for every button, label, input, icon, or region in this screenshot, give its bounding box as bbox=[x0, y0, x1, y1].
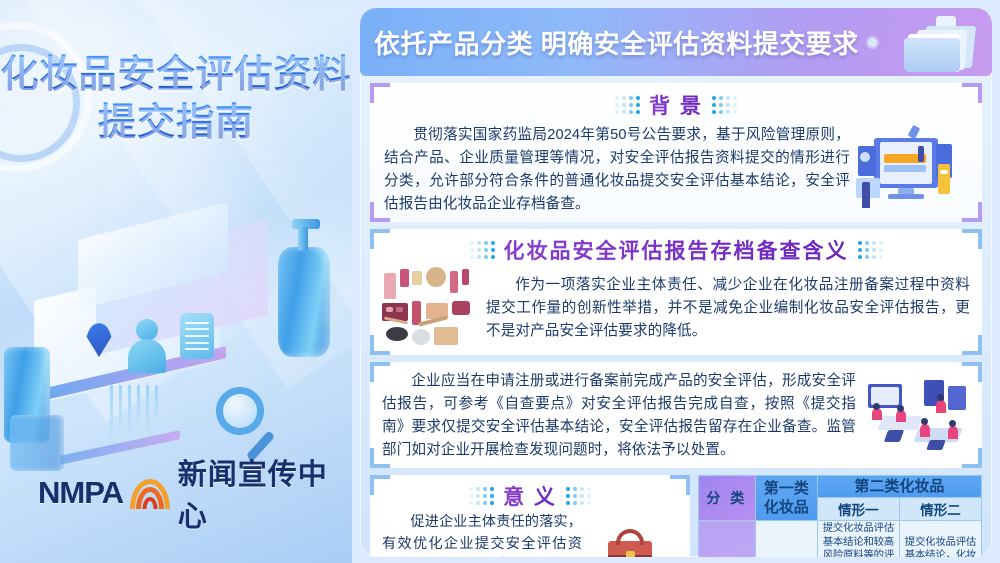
section-significance: 意 义 促进企业主体责任的落实，有效优化企业提交安全评估资料的程序，同时提高监管… bbox=[370, 475, 690, 557]
section-title: 意 义 bbox=[503, 481, 557, 511]
sections-container: 背 景 贯彻落实国家药监局2024年第50号公告要求，基于风险管理原则，结合产品… bbox=[360, 76, 992, 557]
table-cell-case1-main: 提交化妆品评估基本结论和较高风险原料等的评估资料，化妆品安全评估报告存档备查 bbox=[817, 521, 899, 558]
section-body-significance: 促进企业主体责任的落实，有效优化企业提交安全评估资料的程序，同时提高监管效能，有… bbox=[382, 512, 582, 557]
magnifier-icon bbox=[216, 387, 264, 435]
table-subheader-case2: 情形二 bbox=[899, 498, 981, 521]
corner-bracket bbox=[962, 83, 982, 103]
left-cover-panel: 化妆品安全评估资料 提交指南 bbox=[0, 0, 352, 563]
section-body-archiving: 作为一项落实企业主体责任、减少企业在化妆品注册备案过程中资料提交工作量的创新性举… bbox=[486, 274, 970, 343]
corner-bracket bbox=[370, 448, 390, 468]
pump-icon bbox=[298, 227, 308, 251]
table-subheader-case1: 情形一 bbox=[817, 498, 899, 521]
table-header-category: 分 类 bbox=[699, 476, 756, 521]
corner-bracket bbox=[370, 362, 390, 382]
section-title: 化妆品安全评估报告存档备查含义 bbox=[504, 235, 849, 265]
section-heading-significance: 意 义 bbox=[382, 481, 678, 511]
corner-bracket bbox=[962, 229, 982, 249]
dot-grid-icon bbox=[566, 487, 591, 505]
dot-grid-icon bbox=[469, 487, 494, 505]
nmpa-wordmark: NMPA bbox=[38, 475, 123, 511]
cover-title-line1: 化妆品安全评估资料 bbox=[0, 52, 352, 98]
table-row: 提 交资 料要 求 化妆品安全 评估报告 提交化妆品评估基本结论和较高风险原料等… bbox=[699, 521, 982, 558]
cover-title: 化妆品安全评估资料 提交指南 bbox=[0, 52, 352, 148]
corner-bracket bbox=[670, 475, 690, 495]
corner-bracket bbox=[370, 229, 390, 249]
dot-grid-icon bbox=[712, 96, 737, 114]
table-header-first-class: 第一类 化妆品 bbox=[755, 476, 817, 521]
table-header-second-class: 第二类化妆品 bbox=[817, 476, 981, 498]
handbag-cosmetics-icon bbox=[586, 527, 678, 557]
folder-icon bbox=[904, 16, 978, 74]
first-class-line1: 第一类 bbox=[758, 479, 815, 498]
infographic-page: 化妆品安全评估资料 提交指南 bbox=[0, 0, 1000, 563]
table-row: 分 类 第一类 化妆品 第二类化妆品 bbox=[699, 476, 982, 498]
content-card: 依托产品分类 明确安全评估资料提交要求 bbox=[360, 8, 992, 557]
table-header-requirement: 提 交资 料要 求 bbox=[699, 521, 756, 558]
section-enterprise-duty: 企业应当在申请注册或进行备案前完成产品的安全评估，形成安全评估报告，可参考《自查… bbox=[370, 362, 982, 468]
section-body-background: 贯彻落实国家药监局2024年第50号公告要求，基于风险管理原则，结合产品、企业质… bbox=[384, 124, 850, 216]
nmpa-arc-icon bbox=[131, 477, 170, 509]
table-cell-first-class-value: 化妆品安全 评估报告 bbox=[755, 521, 817, 558]
requirements-table-wrap: 分 类 第一类 化妆品 第二类化妆品 情形一 情形二 bbox=[698, 475, 982, 557]
person-icon bbox=[128, 339, 166, 373]
corner-bracket bbox=[370, 83, 390, 103]
dot-grid-icon bbox=[615, 96, 640, 114]
table-cell-case2-main: 提交化妆品评估基本结论，化妆品安全评估报告存档备查 bbox=[899, 521, 981, 558]
section-body-enterprise-duty: 企业应当在申请注册或进行备案前完成产品的安全评估，形成安全评估报告，可参考《自查… bbox=[382, 370, 856, 462]
person-icon bbox=[136, 319, 158, 341]
dot-grid-icon bbox=[470, 241, 495, 259]
section-heading-archiving: 化妆品安全评估报告存档备查含义 bbox=[382, 235, 970, 265]
first-class-line2: 化妆品 bbox=[758, 498, 815, 517]
dot-grid-icon bbox=[858, 241, 883, 259]
header-title: 依托产品分类 明确安全评估资料提交要求 bbox=[374, 24, 859, 61]
requirements-table: 分 类 第一类 化妆品 第二类化妆品 情形一 情形二 bbox=[698, 475, 982, 557]
corner-bracket bbox=[962, 335, 982, 355]
bottle-icon bbox=[278, 247, 330, 357]
monitor-chart-icon bbox=[856, 124, 968, 212]
illus-streaks bbox=[110, 385, 158, 443]
nmpa-logo: NMPA 新闻宣传中心 bbox=[38, 451, 352, 535]
nmpa-cn-label: 新闻宣传中心 bbox=[178, 451, 352, 535]
meeting-room-icon bbox=[862, 378, 970, 454]
section-title: 背 景 bbox=[649, 90, 703, 120]
cosmetics-set-icon bbox=[382, 267, 478, 349]
right-content-panel: 依托产品分类 明确安全评估资料提交要求 bbox=[352, 0, 1000, 563]
bottom-row: 意 义 促进企业主体责任的落实，有效优化企业提交安全评估资料的程序，同时提高监管… bbox=[370, 475, 982, 557]
section-archiving-meaning: 化妆品安全评估报告存档备查含义 bbox=[370, 229, 982, 355]
header-dot-icon bbox=[868, 38, 877, 47]
section-header-bar: 依托产品分类 明确安全评估资料提交要求 bbox=[360, 8, 992, 76]
corner-bracket bbox=[370, 475, 390, 495]
section-background: 背 景 贯彻落实国家药监局2024年第50号公告要求，基于风险管理原则，结合产品… bbox=[370, 83, 982, 222]
section-heading-background: 背 景 bbox=[384, 90, 968, 120]
cover-title-line2: 提交指南 bbox=[0, 98, 352, 148]
corner-bracket bbox=[370, 202, 390, 222]
document-icon bbox=[180, 313, 214, 359]
